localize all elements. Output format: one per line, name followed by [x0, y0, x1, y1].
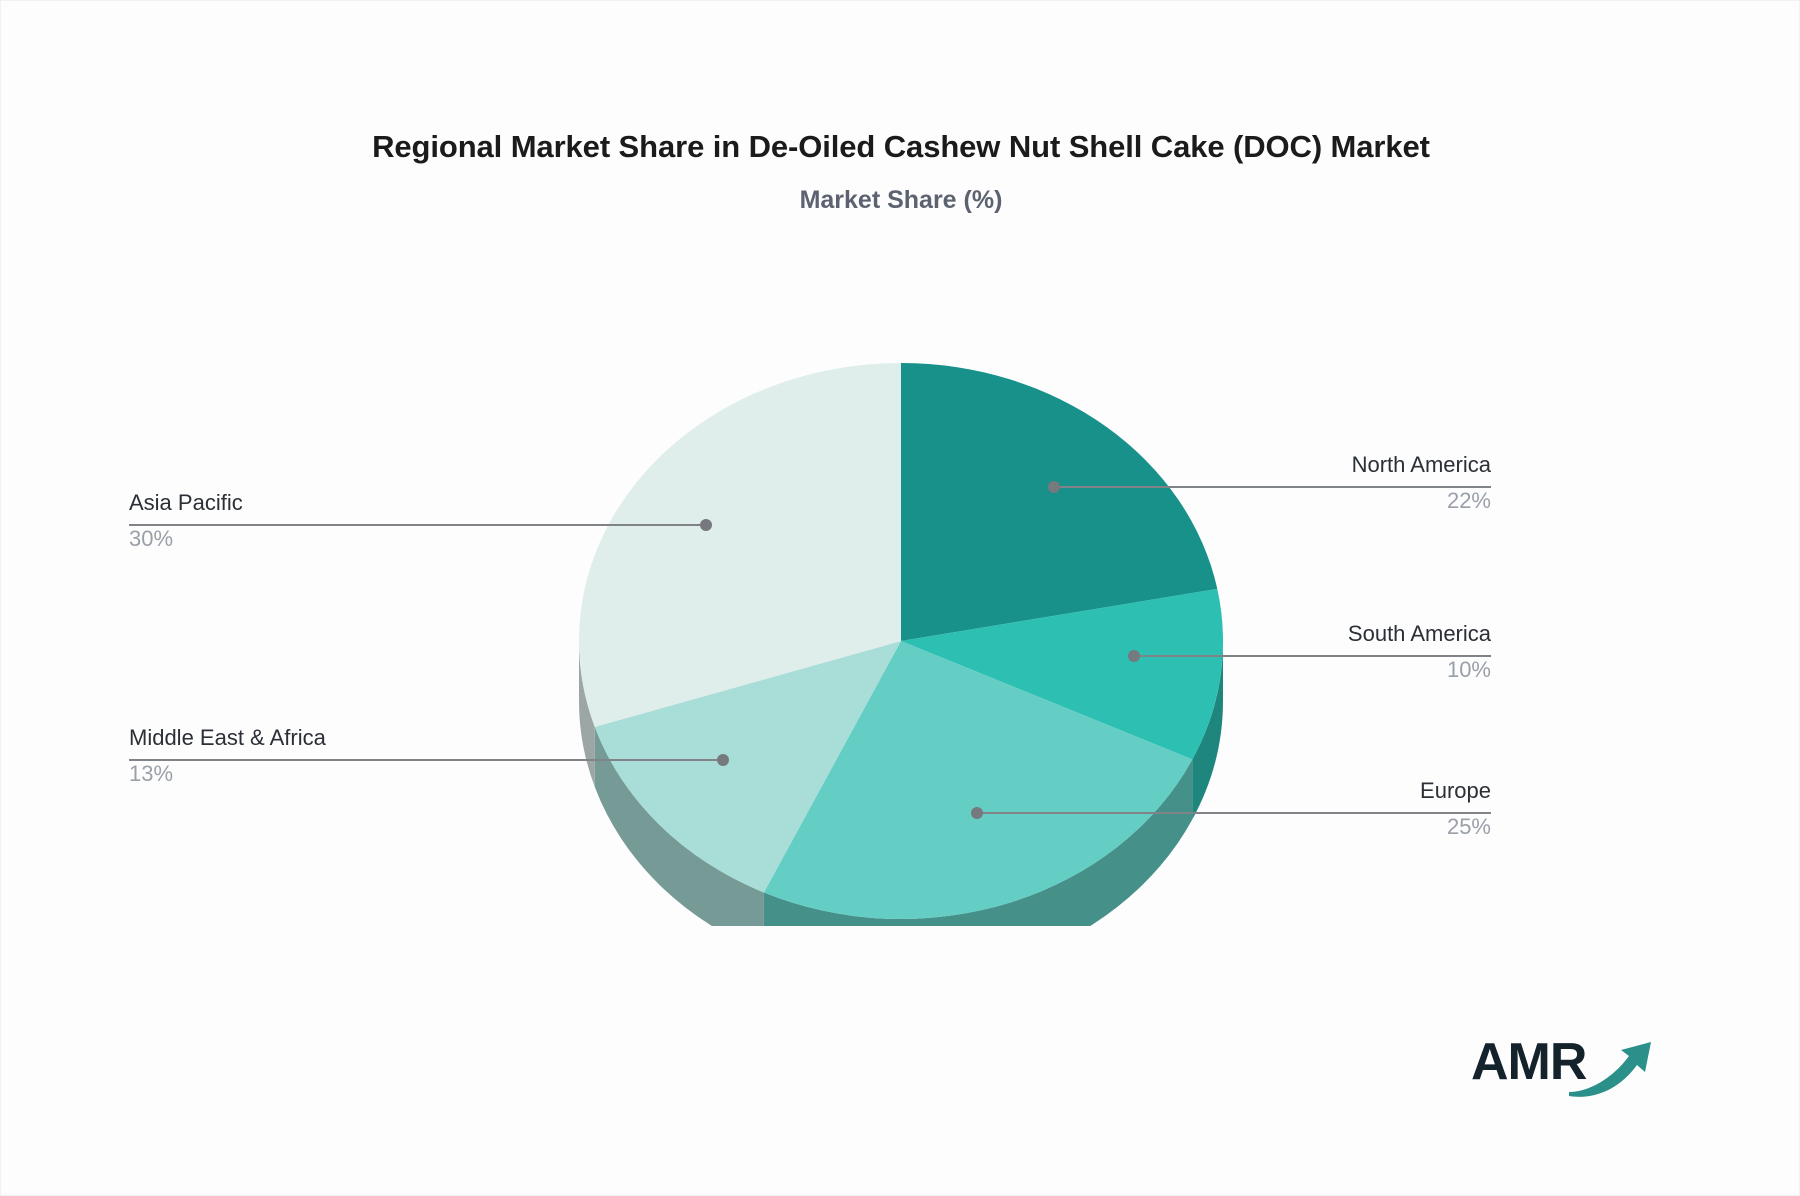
chart-title: Regional Market Share in De-Oiled Cashew… — [1, 129, 1800, 165]
callout-label-europe: Europe — [1071, 779, 1491, 803]
callout-middle-east-africa: Middle East & Africa 13% — [129, 726, 549, 786]
callout-value-north-america: 22% — [1071, 489, 1491, 513]
callout-asia-pacific: Asia Pacific 30% — [129, 491, 549, 551]
callout-europe: Europe 25% — [1071, 779, 1491, 839]
callout-label-north-america: North America — [1071, 453, 1491, 477]
callout-label-middle-east-africa: Middle East & Africa — [129, 726, 549, 750]
callout-value-south-america: 10% — [1071, 658, 1491, 682]
amr-logo: AMR — [1471, 1036, 1656, 1116]
callout-label-asia-pacific: Asia Pacific — [129, 491, 549, 515]
callout-value-middle-east-africa: 13% — [129, 762, 549, 786]
callout-value-asia-pacific: 30% — [129, 527, 549, 551]
callout-south-america: South America 10% — [1071, 622, 1491, 682]
callout-value-europe: 25% — [1071, 815, 1491, 839]
chart-subtitle: Market Share (%) — [1, 186, 1800, 215]
callout-north-america: North America 22% — [1071, 453, 1491, 513]
callout-label-south-america: South America — [1071, 622, 1491, 646]
growth-arrow-icon — [1567, 1034, 1657, 1104]
chart-canvas: Regional Market Share in De-Oiled Cashew… — [0, 0, 1800, 1196]
